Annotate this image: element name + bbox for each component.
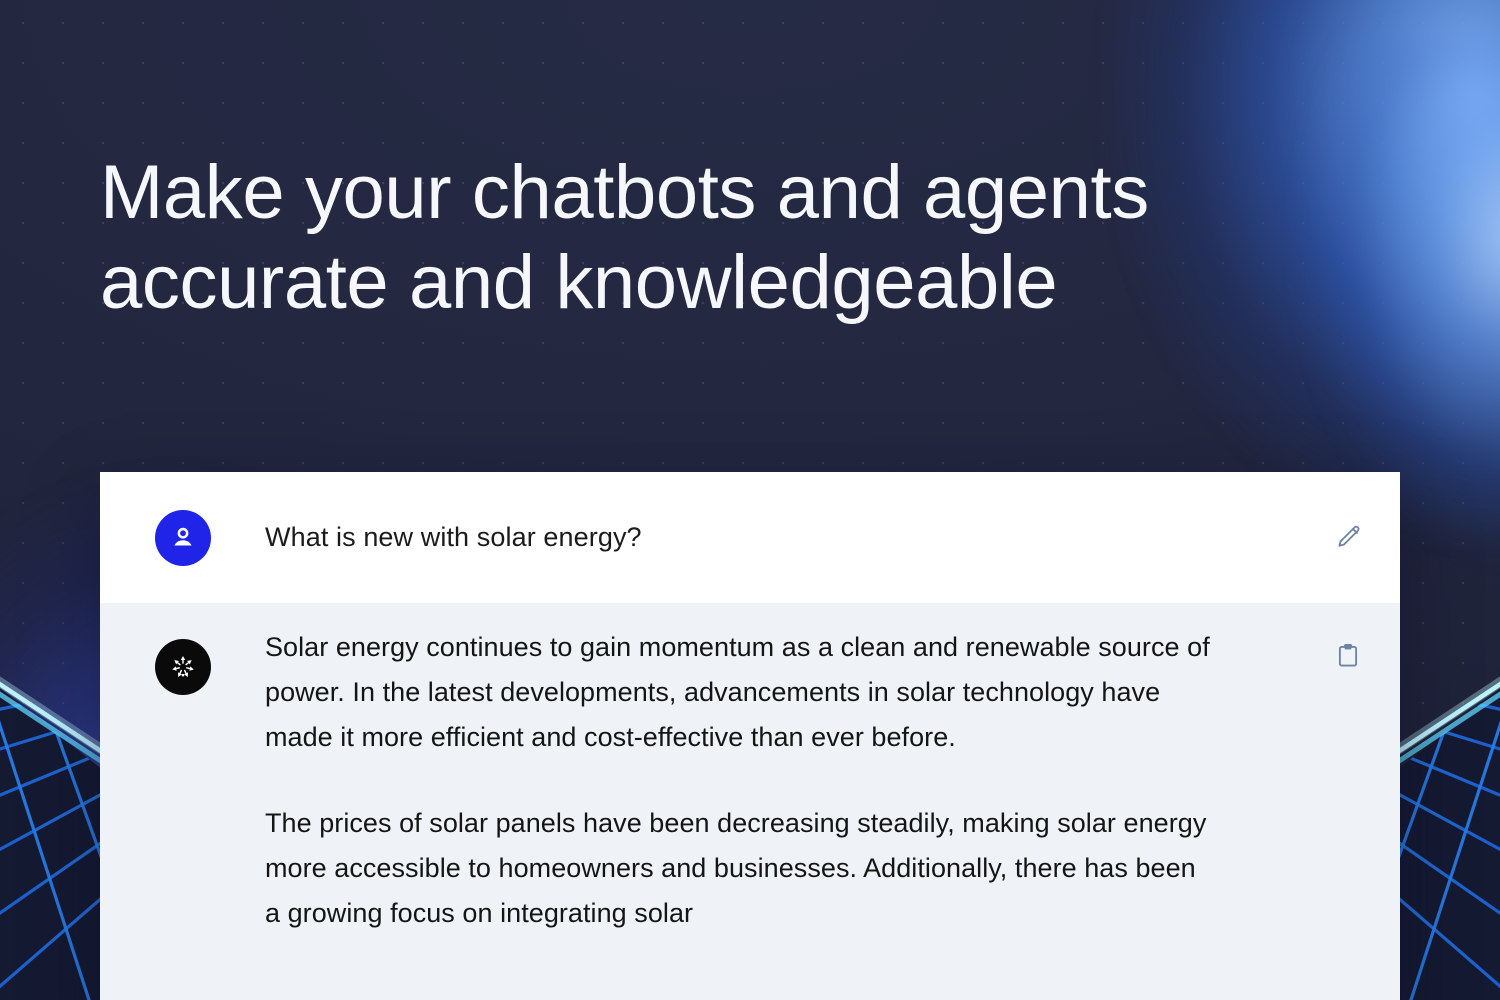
hero-stage: Make your chatbots and agents accurate a… [0,0,1500,1000]
ai-burst-logo-icon [155,639,211,695]
user-avatar-column [100,510,265,566]
pencil-edit-icon[interactable] [1331,521,1365,555]
assistant-message-actions [1295,625,1400,673]
user-message-actions [1295,521,1400,555]
user-question-text: What is new with solar energy? [265,522,1265,553]
assistant-message-body: Solar energy continues to gain momentum … [265,625,1295,936]
clipboard-copy-icon[interactable] [1331,639,1365,673]
page-title: Make your chatbots and agents accurate a… [100,148,1280,328]
assistant-paragraph: The prices of solar panels have been dec… [265,801,1215,936]
chat-message-user: What is new with solar energy? [100,472,1400,603]
chat-message-assistant: Solar energy continues to gain momentum … [100,603,1400,1000]
chat-card: What is new with solar energy? [100,472,1400,1000]
user-message-body: What is new with solar energy? [265,522,1295,553]
assistant-paragraph: Solar energy continues to gain momentum … [265,625,1215,760]
user-avatar-icon [155,510,211,566]
assistant-avatar-column [100,625,265,695]
